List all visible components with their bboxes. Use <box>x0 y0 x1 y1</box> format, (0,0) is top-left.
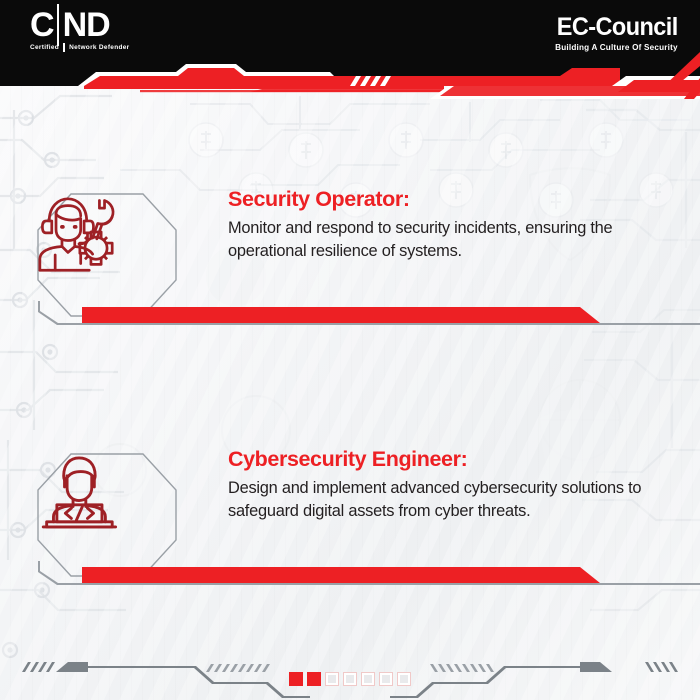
cnd-logo-divider <box>57 4 59 46</box>
slide-canvas: C ND Certified Network Defender EC-Counc… <box>0 0 700 700</box>
pagination-dot-7[interactable] <box>397 672 411 686</box>
pagination-dot-4[interactable] <box>343 672 357 686</box>
card-description-0: Monitor and respond to security incident… <box>228 217 648 262</box>
card-security-operator: Security Operator: Monitor and respond t… <box>0 186 700 336</box>
cnd-logo: C ND Certified Network Defender <box>30 8 150 66</box>
pagination-dot-6[interactable] <box>379 672 393 686</box>
footer-hud-decoration <box>0 630 700 700</box>
ec-council-tagline: Building A Culture Of Security <box>554 42 678 52</box>
pagination-dot-1[interactable] <box>289 672 303 686</box>
card-underline-bar-0 <box>0 301 700 327</box>
cnd-logo-sub-left: Certified <box>30 44 59 51</box>
card-text-block-0: Security Operator: Monitor and respond t… <box>228 186 648 262</box>
ec-council-logo: EC-Council Building A Culture Of Securit… <box>549 14 678 52</box>
ec-council-title: EC-Council <box>557 14 678 40</box>
card-cybersecurity-engineer: Cybersecurity Engineer: Design and imple… <box>0 446 700 596</box>
engineer-laptop-code-icon <box>36 452 122 532</box>
card-underline-bar-1 <box>0 561 700 587</box>
pagination-dot-5[interactable] <box>361 672 375 686</box>
pagination-dot-2[interactable] <box>307 672 321 686</box>
icon-hexagon-frame-1 <box>36 452 178 578</box>
card-description-1: Design and implement advanced cybersecur… <box>228 477 648 522</box>
icon-hexagon-frame-0 <box>36 192 178 318</box>
cnd-logo-sub-right: Network Defender <box>69 44 129 51</box>
card-text-block-1: Cybersecurity Engineer: Design and imple… <box>228 446 648 522</box>
pagination-dot-3[interactable] <box>325 672 339 686</box>
support-operator-headset-wrench-gear-icon <box>36 192 122 272</box>
carousel-pagination[interactable] <box>0 672 700 686</box>
cnd-logo-letters-nd: ND <box>63 8 110 42</box>
card-title-0: Security Operator: <box>228 186 648 212</box>
card-title-1: Cybersecurity Engineer: <box>228 446 648 472</box>
cnd-logo-sub-divider <box>63 43 65 52</box>
cnd-logo-letter-c: C <box>30 8 54 42</box>
